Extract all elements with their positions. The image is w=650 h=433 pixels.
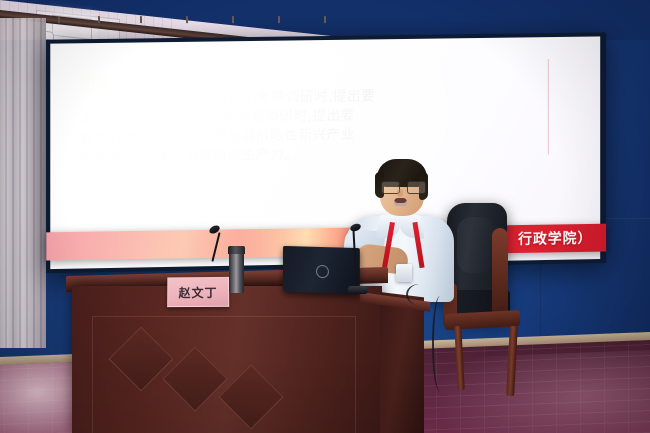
speaker-mouth [394, 198, 407, 206]
curtain-hook [140, 16, 142, 23]
curtain-hook [278, 16, 280, 23]
curtain-hook [98, 16, 100, 23]
microphone-base [348, 286, 368, 294]
curtain-hook [186, 16, 188, 23]
thermos-cap [228, 246, 245, 254]
curtain-hook [324, 16, 326, 23]
id-badge [396, 264, 412, 282]
curtain-hook [232, 16, 234, 23]
name-card-text: 赵文丁 [179, 283, 218, 300]
speaker-nose [397, 189, 403, 197]
banner-text: 行政学院） [518, 228, 592, 249]
slide-title-container: 引言: [77, 69, 134, 94]
name-card: 赵文丁 [167, 277, 229, 307]
laptop-logo-icon [316, 265, 329, 278]
curtain-hook [58, 16, 60, 23]
glasses-lens-right [407, 181, 426, 194]
glasses-bridge [398, 185, 407, 186]
slide-title: 引言: [77, 69, 134, 94]
podium-side [380, 292, 424, 433]
window-curtain [0, 18, 46, 348]
cable [432, 296, 448, 392]
slide-body: 2023年7月以来,在四川考察调研时,提出要 黑龙江、浙江、广西等地考察调研时,… [81, 85, 555, 168]
thermos-bottle [229, 249, 244, 293]
lecture-hall-photo: 引言: 2023年7月以来,在四川考察调研时,提出要 黑龙江、浙江、广西等地考察… [0, 0, 650, 433]
